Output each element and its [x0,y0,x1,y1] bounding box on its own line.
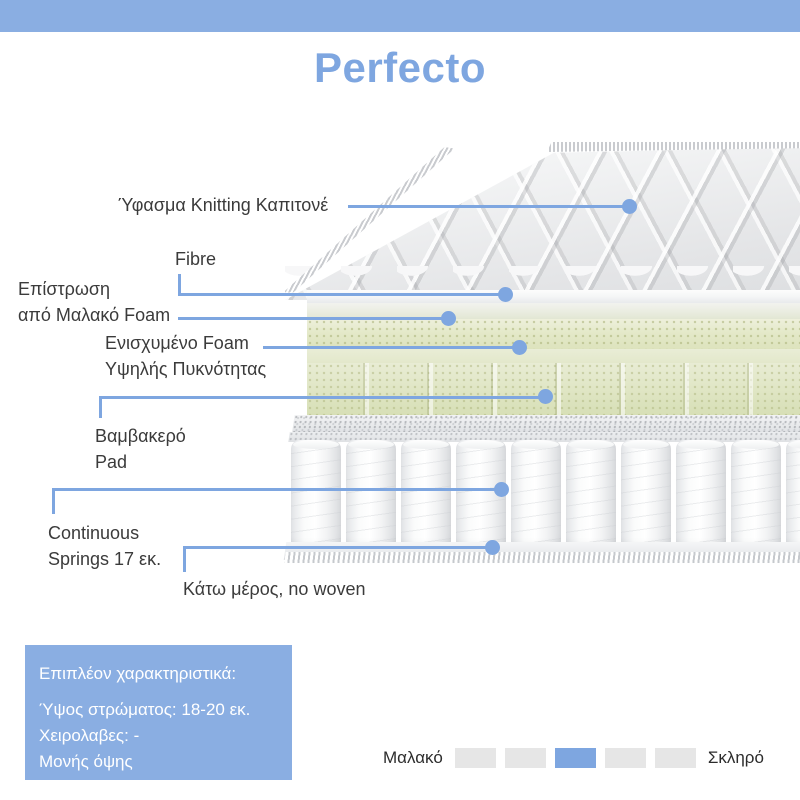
firmness-segment-1[interactable] [455,748,496,768]
firmness-segment-3[interactable] [555,748,596,768]
callout-label-soft-foam-line2: από Μαλακό Foam [18,302,170,328]
foam-grooves [307,363,800,415]
spring-coil [786,440,800,548]
callout-label-springs-line2: Springs 17 εκ. [48,546,161,572]
spring-coil [621,440,671,548]
layer-soft-foam [307,319,800,349]
callout-label-soft-foam-line1: Επίστρωση [18,276,110,302]
leader-line-base-horizontal [183,546,493,549]
leader-dot-soft-foam [441,311,456,326]
leader-dot-springs [494,482,509,497]
leader-dot-fibre [498,287,513,302]
info-box-heading: Επιπλέον χαρακτηριστικά: [39,659,292,689]
firmness-segment-2[interactable] [505,748,546,768]
firmness-segment-4[interactable] [605,748,646,768]
layer-knitting-cover [285,140,800,300]
leader-line-base-vertical [183,546,186,572]
callout-label-no-woven-base: Κάτω μέρος, no woven [183,576,365,602]
cover-scalloped-edge [285,266,800,292]
additional-features-box: Επιπλέον χαρακτηριστικά: Ύψος στρώματος:… [25,645,292,780]
firmness-segment-5[interactable] [655,748,696,768]
leader-line-springs-horizontal [52,488,502,491]
spring-coil [291,440,341,548]
info-row-handles: Χειρολαβες: - [39,723,292,749]
spring-coil [566,440,616,548]
callout-label-cotton-pad-line2: Pad [95,449,127,475]
firmness-soft-label: Μαλακό [383,748,443,768]
product-infographic: Perfecto [0,0,800,800]
callout-label-springs-line1: Continuous [48,520,139,546]
leader-line-knitting-fabric [348,205,628,208]
page-title: Perfecto [0,44,800,92]
leader-line-soft-foam [178,317,446,320]
callout-label-fibre: Fibre [175,246,216,272]
leader-dot-base [485,540,500,555]
firmness-hard-label: Σκληρό [708,748,764,768]
header-accent-bar [0,0,800,32]
layer-foam-divider [307,349,800,363]
callout-label-hd-foam-line1: Ενισχυμένο Foam [105,330,249,356]
callout-label-hd-foam-line2: Υψηλής Πυκνότητας [105,356,266,382]
leader-dot-hd-foam [512,340,527,355]
leader-dot-cotton-pad [538,389,553,404]
firmness-scale: Μαλακό Σκληρό [383,748,764,768]
info-row-height: Ύψος στρώματος: 18-20 εκ. [39,697,292,723]
leader-line-hd-foam [263,346,519,349]
layer-pocket-springs [285,440,800,548]
info-row-sides: Μονής όψης [39,749,292,775]
leader-line-fibre-horizontal [178,293,503,296]
leader-line-springs-vertical [52,488,55,514]
base-stitched-edge [284,552,800,563]
leader-dot-knitting-fabric [622,199,637,214]
callout-label-knitting-fabric: Ύφασμα Knitting Καπιτονέ [118,192,328,218]
callout-label-cotton-pad-line1: Βαμβακερό [95,423,186,449]
spring-coil [511,440,561,548]
spring-coil [731,440,781,548]
leader-line-cotton-pad-horizontal [99,396,545,399]
spring-coil [346,440,396,548]
spring-coil [401,440,451,548]
firmness-segments [455,748,696,768]
info-box-spacer [39,689,292,697]
spring-coil [676,440,726,548]
leader-line-cotton-pad-vertical [99,396,102,418]
